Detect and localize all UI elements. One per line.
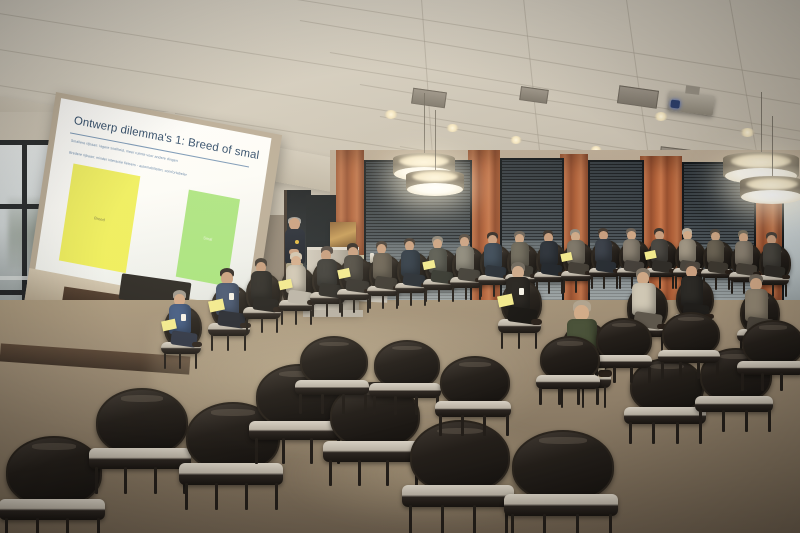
- drum-pendant-6: [740, 176, 800, 202]
- chair-legs: [279, 310, 314, 325]
- audience-member: [343, 243, 369, 312]
- person-torso: [317, 259, 337, 286]
- person-torso: [251, 271, 272, 300]
- person-torso: [707, 240, 724, 263]
- name-badge: [519, 288, 524, 295]
- audience-member: [455, 234, 480, 300]
- person-shoe: [192, 342, 202, 347]
- person-shoe: [531, 319, 542, 325]
- projector-mount: [685, 85, 700, 95]
- person-torso: [401, 250, 420, 276]
- recessed-downlight-6: [740, 128, 755, 137]
- empty-chair: [410, 420, 506, 532]
- person-torso: [595, 239, 612, 262]
- chair-legs: [561, 280, 591, 293]
- chair-legs: [162, 353, 200, 369]
- chair-legs: [370, 396, 439, 415]
- chair-legs: [506, 514, 616, 533]
- chair-legs: [589, 276, 619, 288]
- pendant-wire: [435, 110, 436, 172]
- projector-lens-icon: [670, 100, 680, 109]
- audience-member: [168, 290, 198, 368]
- chair-legs: [296, 394, 368, 414]
- chair-legs: [91, 467, 190, 494]
- empty-chair: [662, 312, 716, 378]
- empty-chair: [742, 320, 800, 390]
- chair-legs: [626, 422, 704, 444]
- pendant-inner-glow: [731, 154, 792, 168]
- name-badge: [181, 314, 186, 321]
- chair-legs: [537, 388, 600, 406]
- chair-legs: [244, 318, 280, 333]
- chair-legs: [739, 373, 800, 391]
- chair-seat: [179, 463, 283, 484]
- name-badge: [229, 293, 234, 300]
- chair-legs: [325, 460, 421, 487]
- chair-back: [6, 436, 102, 507]
- empty-chair: [96, 388, 184, 492]
- person-torso: [456, 246, 474, 271]
- drum-pendant-4: [406, 170, 464, 194]
- empty-chair: [300, 336, 364, 412]
- pendant-diffuser: [741, 190, 800, 204]
- person-torso: [735, 241, 753, 265]
- chair-legs: [337, 299, 371, 313]
- chair-seat: [323, 441, 423, 461]
- person-shoe: [782, 275, 790, 279]
- pendant-wire: [772, 116, 773, 178]
- pendant-diffuser: [407, 183, 463, 196]
- audience-member: [250, 258, 279, 332]
- chair-legs: [499, 332, 540, 350]
- chair-legs: [209, 334, 249, 351]
- person-torso: [540, 241, 558, 265]
- recessed-downlight-3: [510, 136, 522, 144]
- chair-seat: [0, 499, 105, 521]
- person-torso: [373, 253, 392, 279]
- chair-legs: [0, 518, 103, 533]
- recessed-downlight-5: [654, 112, 668, 121]
- pendant-wire: [761, 92, 762, 154]
- chair-legs: [404, 505, 512, 533]
- audience-member: [285, 252, 313, 324]
- pendant-wire: [424, 93, 425, 155]
- audience-member: [372, 241, 398, 308]
- conference-room-photo: Ontwerp dilemma's 1: Breed of smal Small…: [0, 0, 800, 533]
- pendant-inner-glow: [399, 155, 449, 167]
- chair-seat: [504, 494, 618, 516]
- chair-back: [512, 430, 614, 502]
- chair-legs: [181, 483, 282, 511]
- audience-member: [566, 229, 590, 291]
- chair-legs: [696, 410, 772, 431]
- chair-seat: [402, 485, 513, 507]
- audience-member: [400, 238, 426, 305]
- recessed-downlight-1: [384, 110, 398, 119]
- empty-chair: [596, 318, 648, 382]
- chair-legs: [659, 362, 719, 379]
- audience-member: [539, 230, 563, 292]
- audience-member: [215, 268, 247, 350]
- empty-chair: [512, 430, 610, 533]
- audience-member: [428, 236, 453, 302]
- person-torso: [681, 276, 703, 306]
- audience-member: [594, 228, 617, 289]
- audience-member: [505, 262, 538, 348]
- chair-legs: [593, 367, 651, 384]
- chair-legs: [436, 415, 510, 435]
- presenter-logo-icon: [295, 240, 299, 244]
- person-torso: [679, 239, 696, 262]
- recessed-downlight-2: [446, 124, 459, 132]
- chair-back: [96, 388, 188, 456]
- empty-chair: [374, 340, 436, 414]
- person-torso: [623, 239, 640, 262]
- empty-chair: [440, 356, 506, 434]
- empty-chair: [6, 436, 98, 533]
- slide-block-left: Breed: [59, 163, 140, 273]
- pendant-inner-glow: [746, 178, 797, 190]
- person-torso: [632, 283, 656, 315]
- chair-seat: [89, 448, 191, 469]
- empty-chair: [540, 336, 596, 404]
